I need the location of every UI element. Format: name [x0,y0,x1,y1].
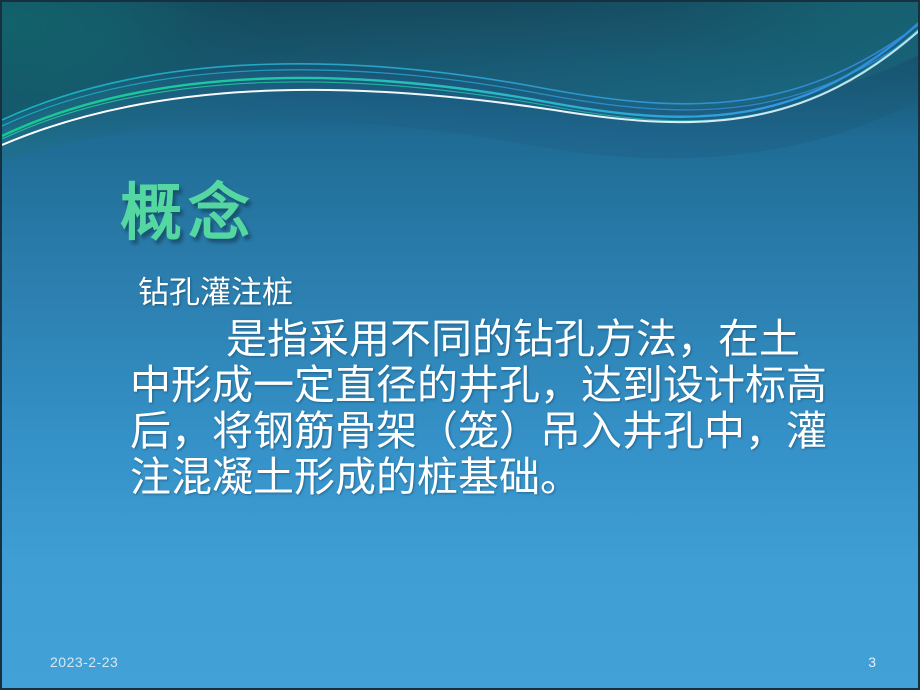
body-paragraph: 是指采用不同的钻孔方法，在土 中形成一定直径的井孔，达到设计标高 后，将钢筋骨架… [130,317,850,501]
paragraph-line: 注混凝土形成的桩基础。 [130,455,850,501]
presentation-slide: 概念 钻孔灌注桩 是指采用不同的钻孔方法，在土 中形成一定直径的井孔，达到设计标… [0,0,920,690]
body-lead-term: 钻孔灌注桩 [138,274,850,311]
slide-title: 概念 [120,182,256,244]
slide-body: 钻孔灌注桩 是指采用不同的钻孔方法，在土 中形成一定直径的井孔，达到设计标高 后… [130,274,850,501]
paragraph-line: 后，将钢筋骨架（笼）吊入井孔中，灌 [130,409,850,455]
paragraph-line: 是指采用不同的钻孔方法，在土 [130,317,850,363]
paragraph-line: 中形成一定直径的井孔，达到设计标高 [130,363,850,409]
footer-page-number: 3 [868,654,876,670]
wave-ribbon-decoration [2,2,920,162]
footer-date: 2023-2-23 [50,654,118,670]
